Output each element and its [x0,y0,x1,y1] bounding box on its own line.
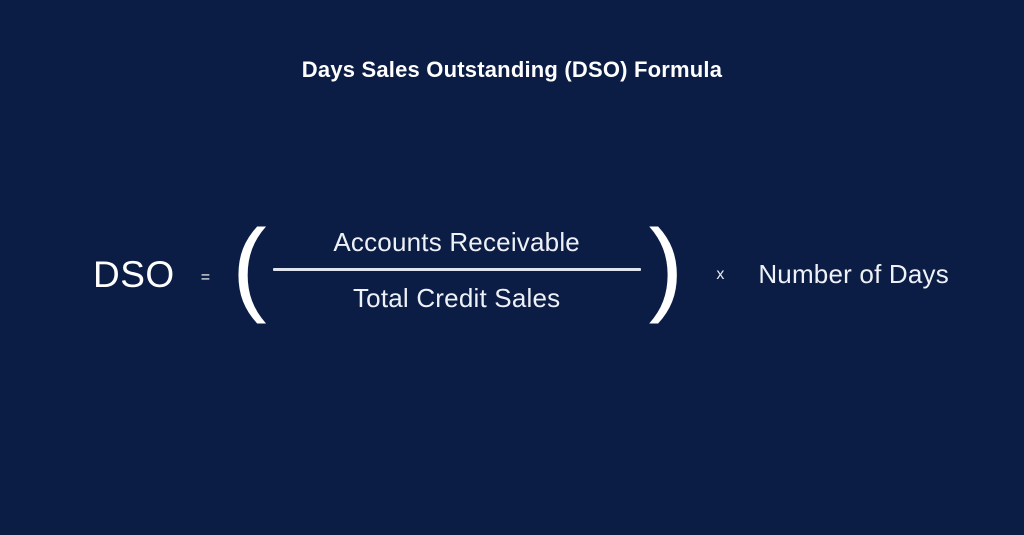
dso-formula: DSO = ( Accounts Receivable Total Credit… [0,205,1024,335]
open-parenthesis: ( [232,215,267,319]
equals-sign: = [201,270,210,286]
close-parenthesis: ) [649,215,684,319]
fraction-denominator: Total Credit Sales [353,271,560,311]
multiplication-sign: x [716,267,724,283]
formula-result-term: DSO [93,256,175,293]
fraction: Accounts Receivable Total Credit Sales [273,229,641,311]
formula-multiplier-term: Number of Days [758,261,949,287]
dso-formula-slide: Days Sales Outstanding (DSO) Formula DSO… [0,0,1024,535]
page-title: Days Sales Outstanding (DSO) Formula [0,55,1024,85]
fraction-numerator: Accounts Receivable [333,229,580,268]
